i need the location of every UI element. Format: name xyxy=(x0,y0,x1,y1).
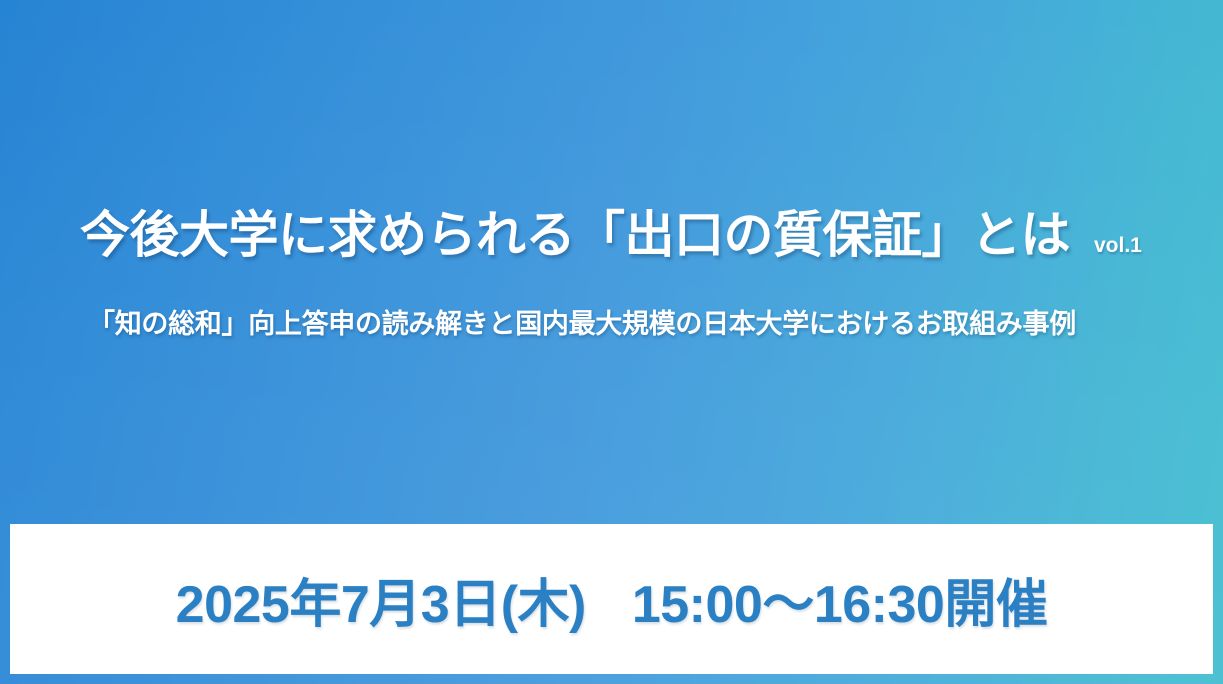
schedule-panel: 2025年7月3日(木) 15:00〜16:30開催 xyxy=(10,524,1213,674)
schedule-line: 2025年7月3日(木) 15:00〜16:30開催 xyxy=(176,562,1048,637)
title-row: 今後大学に求められる「出口の質保証」とは vol.1 xyxy=(80,206,1142,264)
webinar-banner: 今後大学に求められる「出口の質保証」とは vol.1 「知の総和」向上答申の読み… xyxy=(0,0,1223,684)
event-date: 2025年7月3日(木) xyxy=(176,562,586,637)
volume-badge: vol.1 xyxy=(1094,234,1142,258)
event-time: 15:00〜16:30開催 xyxy=(632,562,1048,637)
hero-section: 今後大学に求められる「出口の質保証」とは vol.1 「知の総和」向上答申の読み… xyxy=(0,0,1223,522)
page-subtitle: 「知の総和」向上答申の読み解きと国内最大規模の日本大学におけるお取組み事例 xyxy=(88,308,1076,340)
page-title: 今後大学に求められる「出口の質保証」とは xyxy=(80,206,1070,264)
